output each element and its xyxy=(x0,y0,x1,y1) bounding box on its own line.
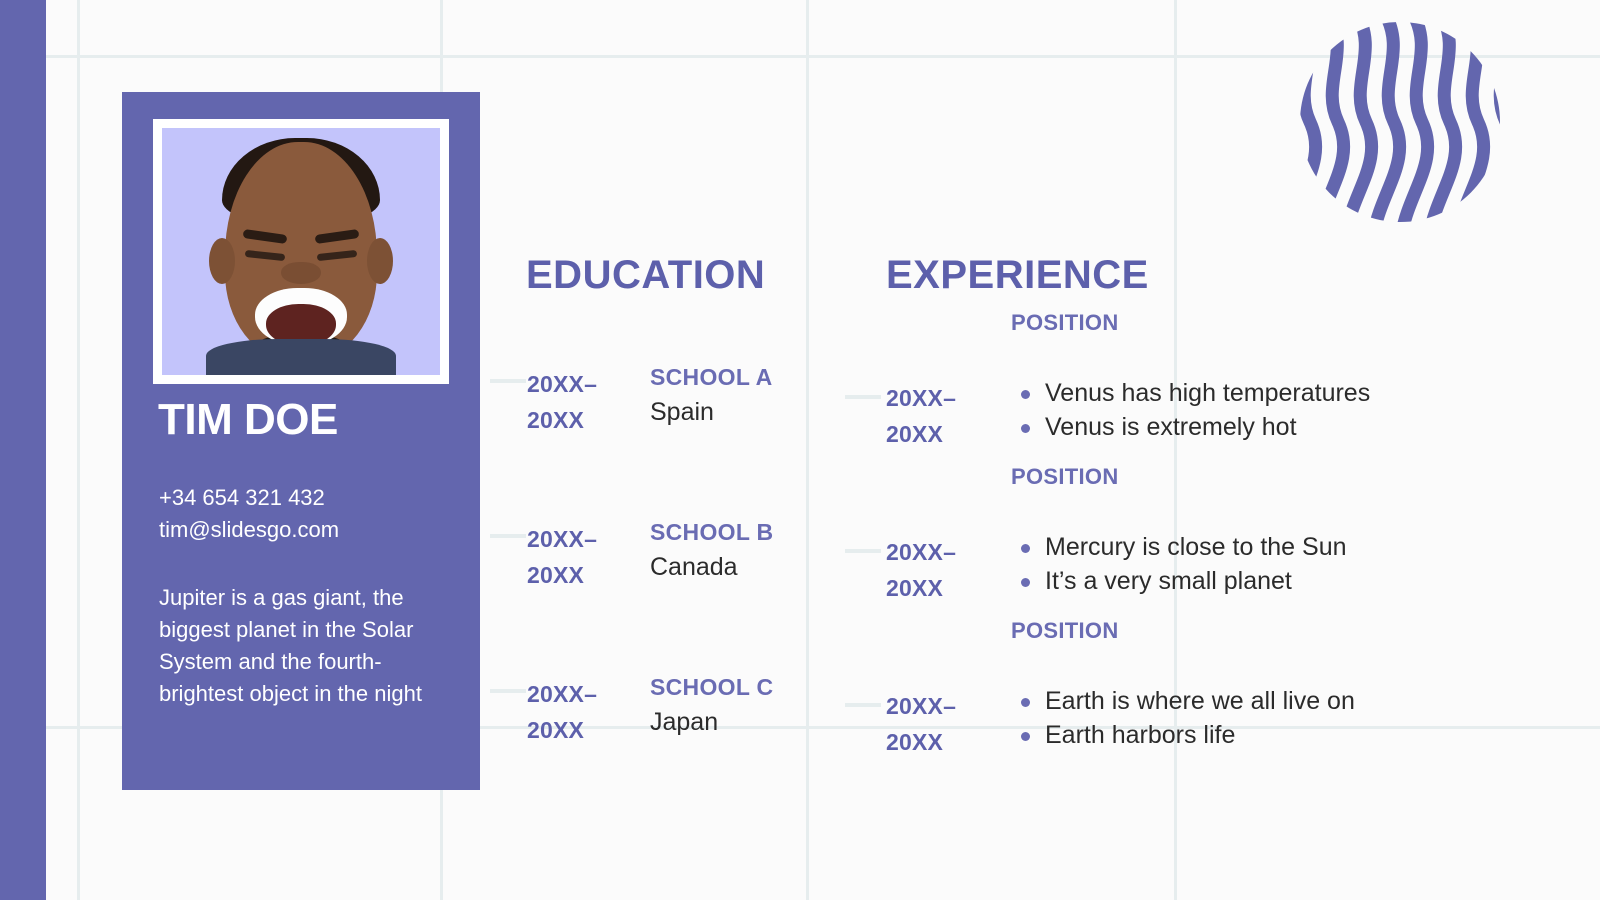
education-dates: 20XX– 20XX xyxy=(527,676,627,748)
education-body: SCHOOL A Spain xyxy=(650,360,773,430)
education-dates-line: 20XX xyxy=(527,557,627,593)
resume-slide: TIM DOE +34 654 321 432 tim@slidesgo.com… xyxy=(0,0,1600,900)
experience-dates-line: 20XX– xyxy=(886,688,996,724)
experience-dates: 20XX– 20XX xyxy=(886,380,996,452)
experience-bullet: Mercury is close to the Sun xyxy=(1011,530,1347,564)
experience-dates-line: 20XX xyxy=(886,724,996,760)
experience-position: POSITION xyxy=(1011,310,1119,336)
portrait-ear-right xyxy=(367,238,393,284)
education-dates-line: 20XX– xyxy=(527,366,627,402)
education-body: SCHOOL C Japan xyxy=(650,670,773,740)
experience-list: POSITION 20XX– 20XX Venus has high tempe… xyxy=(845,310,1545,772)
experience-bullets: Venus has high temperatures Venus is ext… xyxy=(1011,376,1370,444)
education-school: SCHOOL C xyxy=(650,670,773,704)
experience-bullets: Earth is where we all live on Earth harb… xyxy=(1011,684,1355,752)
connector-dash xyxy=(490,534,526,538)
profile-contact: +34 654 321 432 tim@slidesgo.com xyxy=(159,482,339,546)
experience-bullet: Earth is where we all live on xyxy=(1011,684,1355,718)
experience-dates-line: 20XX xyxy=(886,570,996,606)
education-dates: 20XX– 20XX xyxy=(527,521,627,593)
education-entry: 20XX– 20XX SCHOOL C Japan xyxy=(490,670,850,825)
experience-entry: POSITION 20XX– 20XX Earth is where we al… xyxy=(845,618,1545,772)
profile-bio: Jupiter is a gas giant, the biggest plan… xyxy=(159,582,449,710)
experience-bullet: It’s a very small planet xyxy=(1011,564,1347,598)
experience-position: POSITION xyxy=(1011,464,1119,490)
experience-bullets: Mercury is close to the Sun It’s a very … xyxy=(1011,530,1347,598)
education-body: SCHOOL B Canada xyxy=(650,515,773,585)
profile-email[interactable]: tim@slidesgo.com xyxy=(159,514,339,546)
education-list: 20XX– 20XX SCHOOL A Spain 20XX– 20XX SCH… xyxy=(490,360,850,825)
experience-bullet: Venus is extremely hot xyxy=(1011,410,1370,444)
left-accent-bar xyxy=(0,0,46,900)
experience-dates-line: 20XX– xyxy=(886,380,996,416)
connector-dash xyxy=(845,549,881,553)
education-dates-line: 20XX– xyxy=(527,521,627,557)
connector-dash xyxy=(490,689,526,693)
connector-dash xyxy=(845,395,881,399)
experience-bullet: Venus has high temperatures xyxy=(1011,376,1370,410)
grid-line-vertical xyxy=(77,0,80,900)
portrait-nose xyxy=(281,262,321,284)
experience-dates: 20XX– 20XX xyxy=(886,688,996,760)
experience-dates-line: 20XX– xyxy=(886,534,996,570)
education-dates: 20XX– 20XX xyxy=(527,366,627,438)
connector-dash xyxy=(845,703,881,707)
education-entry: 20XX– 20XX SCHOOL B Canada xyxy=(490,515,850,670)
education-entry: 20XX– 20XX SCHOOL A Spain xyxy=(490,360,850,515)
education-school: SCHOOL A xyxy=(650,360,773,394)
portrait-photo xyxy=(162,128,440,375)
experience-dates: 20XX– 20XX xyxy=(886,534,996,606)
experience-dates-line: 20XX xyxy=(886,416,996,452)
profile-card: TIM DOE +34 654 321 432 tim@slidesgo.com… xyxy=(122,92,480,790)
profile-phone[interactable]: +34 654 321 432 xyxy=(159,482,339,514)
education-dates-line: 20XX xyxy=(527,712,627,748)
portrait-shirt xyxy=(206,339,396,375)
education-dates-line: 20XX xyxy=(527,402,627,438)
education-school: SCHOOL B xyxy=(650,515,773,549)
portrait-mouth xyxy=(255,288,347,346)
wavy-lines-circle-logo xyxy=(1296,18,1504,226)
experience-bullet: Earth harbors life xyxy=(1011,718,1355,752)
education-section-title: EDUCATION xyxy=(526,255,765,295)
photo-frame xyxy=(153,119,449,384)
experience-entry: POSITION 20XX– 20XX Venus has high tempe… xyxy=(845,310,1545,464)
experience-entry: POSITION 20XX– 20XX Mercury is close to … xyxy=(845,464,1545,618)
experience-position: POSITION xyxy=(1011,618,1119,644)
profile-name: TIM DOE xyxy=(158,398,338,442)
portrait-ear-left xyxy=(209,238,235,284)
experience-section-title: EXPERIENCE xyxy=(886,255,1149,295)
education-place: Japan xyxy=(650,704,773,740)
education-dates-line: 20XX– xyxy=(527,676,627,712)
education-place: Canada xyxy=(650,549,773,585)
connector-dash xyxy=(490,379,526,383)
education-place: Spain xyxy=(650,394,773,430)
